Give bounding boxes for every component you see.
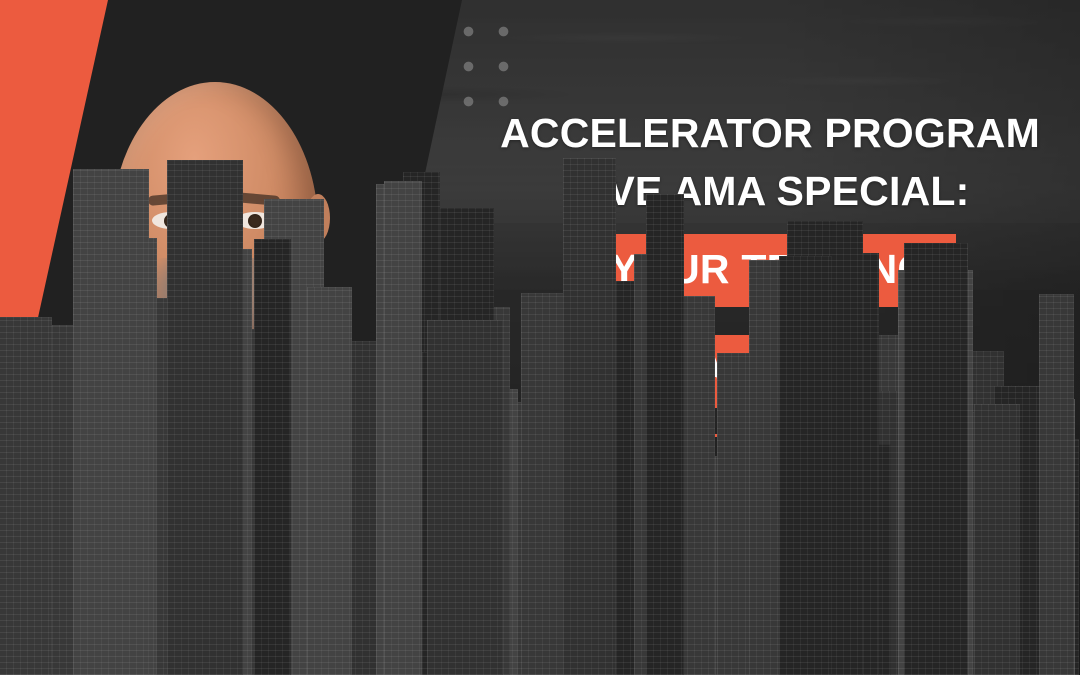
building (563, 158, 616, 675)
building (254, 239, 292, 675)
building (0, 317, 52, 675)
building (167, 160, 243, 675)
promo-banner: ACCELERATOR PROGRAM LIVE AMA SPECIAL: YO… (0, 0, 1080, 675)
building (646, 194, 684, 675)
building (904, 243, 968, 675)
building (73, 169, 149, 675)
building (307, 287, 352, 675)
building (1039, 294, 1074, 675)
building (974, 404, 1020, 675)
building (384, 181, 422, 675)
iris-right (248, 214, 262, 228)
building (427, 320, 503, 675)
headline-line-1: ACCELERATOR PROGRAM (470, 104, 1070, 162)
headline-line-2: LIVE AMA SPECIAL: (470, 162, 1070, 220)
building (779, 256, 831, 675)
